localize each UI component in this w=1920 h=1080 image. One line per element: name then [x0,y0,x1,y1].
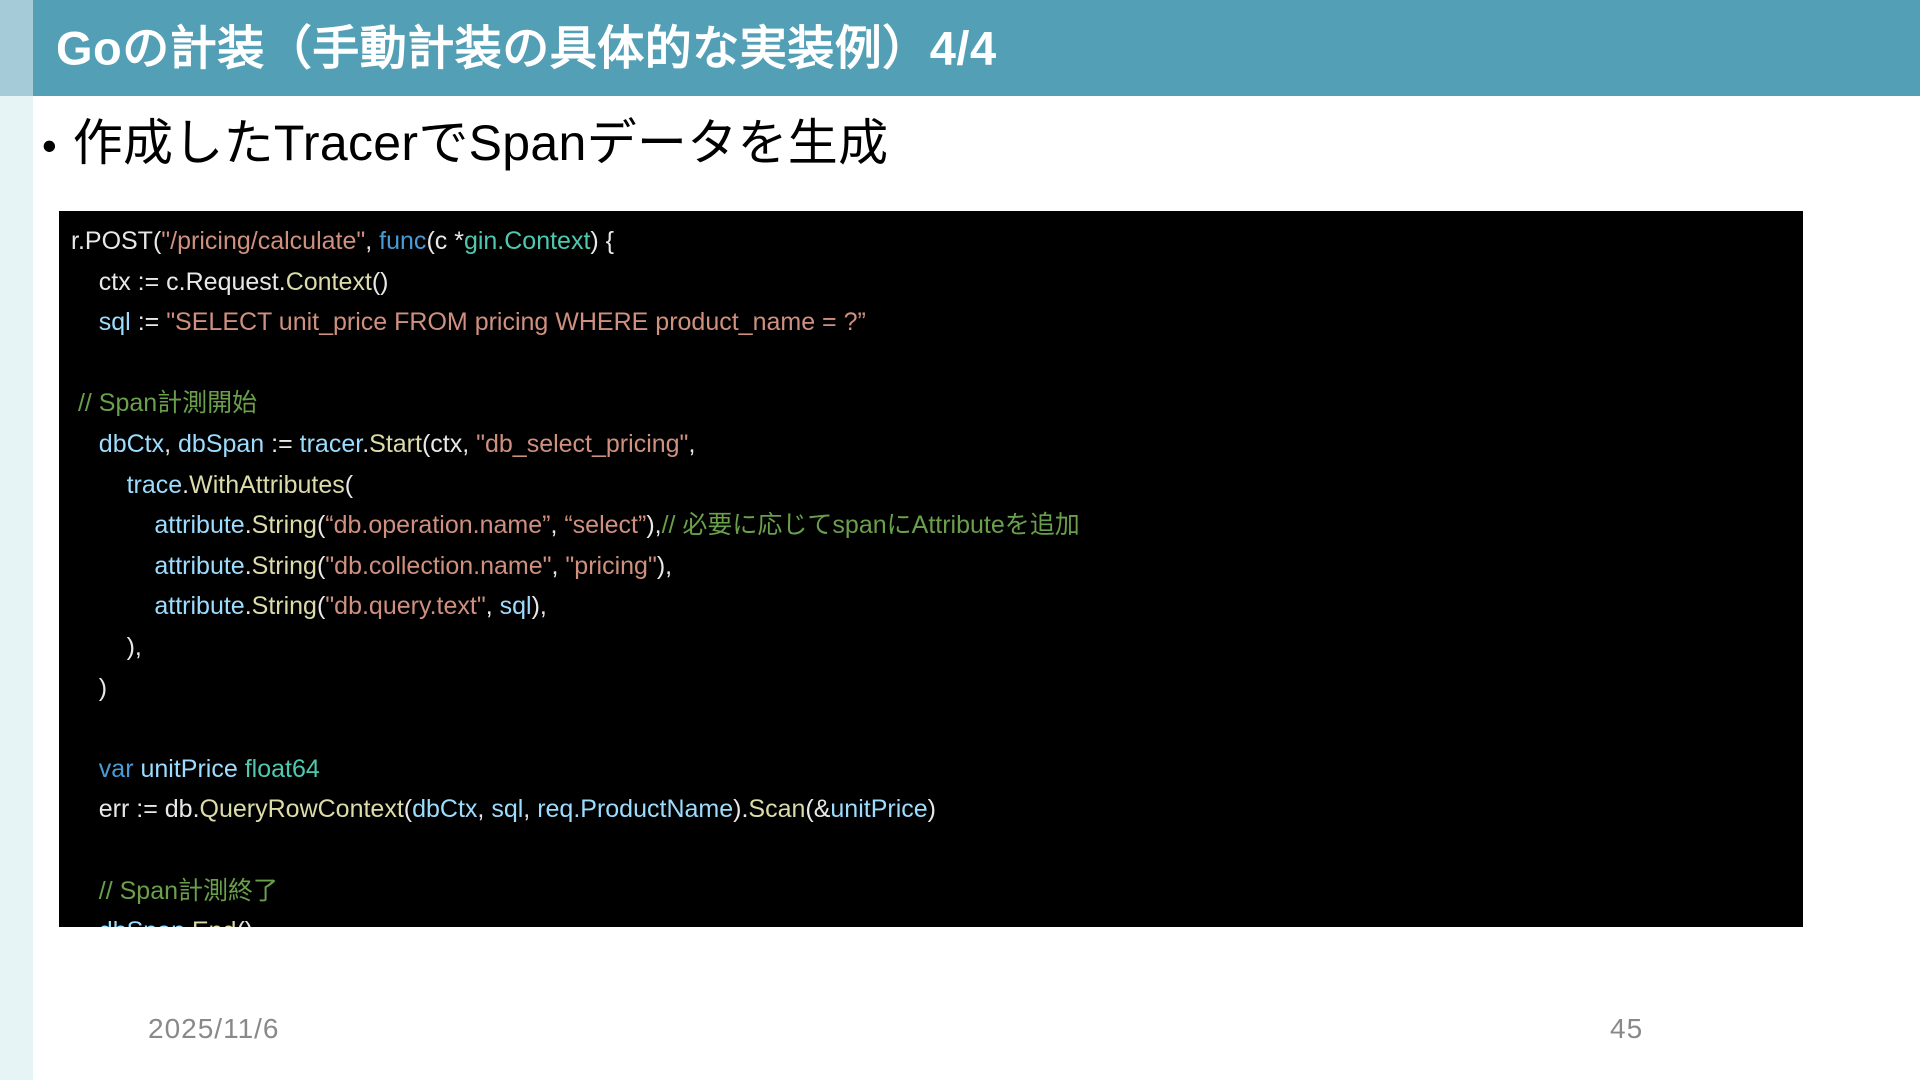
code-token-plain: := [131,308,166,336]
code-token-string: "db.query.text" [325,592,485,620]
code-token-fn: Context [286,268,372,296]
code-token-plain: , [477,795,491,823]
code-token-plain: , [523,795,537,823]
code-line: r.POST("/pricing/calculate", func(c *gin… [71,221,1803,262]
code-token-plain: (& [805,795,830,823]
code-token-plain: (c * [426,227,464,255]
code-line: dbSpan.End() [71,911,1803,927]
code-token-plain: , [486,592,500,620]
code-token-keyword: func [379,227,426,255]
code-token-plain: ). [733,795,748,823]
code-token-plain: ), [646,511,661,539]
code-token-fn: End [192,917,236,927]
code-token-plain [71,592,154,620]
code-token-plain: , [552,552,566,580]
bullet-item-label: 作成したTracerでSpanデータを生成 [73,114,889,173]
code-token-string: “select” [564,511,646,539]
code-token-plain: , [164,430,178,458]
code-line: trace.WithAttributes( [71,465,1803,506]
code-token-plain: . [245,592,252,620]
code-token-comment: // Span計測終了 [71,877,278,905]
code-line [71,830,1803,871]
code-token-plain: ( [345,471,353,499]
code-token-var: tracer [300,430,363,458]
code-token-plain [71,714,78,742]
code-token-plain: err := db. [71,795,200,823]
code-line: dbCtx, dbSpan := tracer.Start(ctx, "db_s… [71,424,1803,465]
code-token-var: sql [491,795,523,823]
code-token-fn: String [252,511,317,539]
code-token-string: "SELECT unit_price FROM pricing WHERE pr… [166,308,866,336]
code-token-plain [71,917,99,927]
code-token-plain: ctx := c.Request. [71,268,286,296]
code-token-plain [71,430,99,458]
code-token-plain: () [236,917,253,927]
code-token-var: dbSpan [99,917,185,927]
code-token-plain [71,755,99,783]
code-token-var: sql [71,308,131,336]
code-token-type: gin.Context [464,227,590,255]
slide-canvas: Goの計装（手動計装の具体的な実装例）4/4 • 作成したTracerでSpan… [0,0,1920,1080]
code-token-plain: ) [928,795,936,823]
code-line: attribute.String(“db.operation.name”, “s… [71,505,1803,546]
code-token-plain: ), [657,552,672,580]
code-token-fn: String [252,592,317,620]
code-token-plain: , [365,227,379,255]
code-line: // Span計測終了 [71,871,1803,912]
code-token-string: "pricing" [565,552,656,580]
code-line: var unitPrice float64 [71,749,1803,790]
code-line: ctx := c.Request.Context() [71,262,1803,303]
code-token-plain: ), [71,633,142,661]
code-token-var: dbSpan [178,430,264,458]
code-token-fn: QueryRowContext [200,795,404,823]
code-token-plain [71,552,154,580]
code-token-var: dbCtx [99,430,164,458]
code-token-type: float64 [245,755,320,783]
footer-date: 2025/11/6 [148,1013,280,1045]
code-token-plain: . [245,511,252,539]
code-token-string: “db.operation.name” [325,511,550,539]
code-token-fn: Start [369,430,422,458]
code-token-plain [71,471,127,499]
header-accent-block [0,0,33,96]
code-token-plain: . [245,552,252,580]
code-token-keyword: var [99,755,134,783]
bullet-item: • 作成したTracerでSpanデータを生成 [42,114,888,173]
code-line: ) [71,668,1803,709]
code-token-fn: String [252,552,317,580]
code-token-plain: (ctx, [422,430,476,458]
code-token-var: dbCtx [412,795,477,823]
code-token-plain: ), [532,592,547,620]
code-line: sql := "SELECT unit_price FROM pricing W… [71,302,1803,343]
code-token-plain: , [550,511,564,539]
code-line: attribute.String("db.query.text", sql), [71,586,1803,627]
code-token-var: attribute [154,592,244,620]
code-token-plain [71,836,78,864]
code-block: r.POST("/pricing/calculate", func(c *gin… [59,211,1803,927]
code-line: ), [71,627,1803,668]
code-token-var: sql [500,592,532,620]
code-token-var: req.ProductName [537,795,733,823]
code-line: err := db.QueryRowContext(dbCtx, sql, re… [71,789,1803,830]
code-token-var: unitPrice [140,755,237,783]
code-token-fn: Scan [748,795,805,823]
code-token-plain: ( [404,795,412,823]
code-token-plain: r.POST( [71,227,161,255]
code-token-var: unitPrice [830,795,927,823]
code-token-string: "db.collection.name" [325,552,551,580]
code-token-plain: := [264,430,299,458]
code-token-plain [71,511,154,539]
code-line: // Span計測開始 [71,383,1803,424]
code-token-comment: // Span計測開始 [71,389,257,417]
code-token-var: attribute [154,511,244,539]
code-token-plain: . [185,917,192,927]
code-line [71,343,1803,384]
code-token-comment: // 必要に応じてspanにAttributeを追加 [662,511,1080,539]
code-token-plain [71,349,78,377]
code-token-string: "db_select_pricing" [476,430,688,458]
code-line [71,708,1803,749]
code-token-var: trace [127,471,183,499]
bullet-marker-icon: • [42,125,57,167]
code-line: attribute.String("db.collection.name", "… [71,546,1803,587]
left-accent-strip [0,0,33,1080]
code-token-plain: () [372,268,389,296]
code-token-plain: ) [71,674,107,702]
code-token-fn: WithAttributes [189,471,345,499]
code-token-plain [238,755,245,783]
code-token-var: attribute [154,552,244,580]
slide-header-bar: Goの計装（手動計装の具体的な実装例）4/4 [0,0,1920,96]
page-title: Goの計装（手動計装の具体的な実装例）4/4 [56,25,997,72]
footer-page-number: 45 [1610,1013,1643,1045]
code-token-plain: , [688,430,695,458]
code-token-plain: ) { [590,227,614,255]
code-content: r.POST("/pricing/calculate", func(c *gin… [59,221,1803,927]
code-token-string: "/pricing/calculate" [161,227,365,255]
